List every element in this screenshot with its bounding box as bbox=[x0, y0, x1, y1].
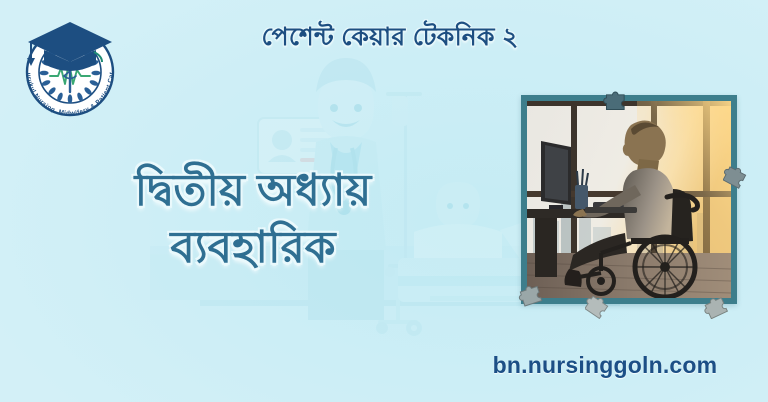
banner-subject-title: পেশেন্ট কেয়ার টেকনিক ২ bbox=[150, 22, 630, 53]
bed-wheels-watermark bbox=[376, 296, 520, 336]
wheelchair-user-at-desk-photo bbox=[527, 101, 731, 298]
chapter-heading: দ্বিতীয় অধ্যায় ব্যবহারিক bbox=[18, 162, 488, 276]
gurukul-nursing-logo: Gurukul Nursing, Midwifery & Patient Car… bbox=[14, 12, 126, 124]
site-url-text: bn.nursinggoln.com bbox=[460, 352, 750, 379]
course-banner: Gurukul Nursing, Midwifery & Patient Car… bbox=[0, 0, 768, 402]
wheelchair-user-photo-frame bbox=[521, 95, 737, 304]
photo-inner bbox=[527, 101, 731, 298]
chapter-heading-line-1: দ্বিতীয় অধ্যায় bbox=[18, 162, 488, 219]
chapter-heading-line-2: ব্যবহারিক bbox=[18, 219, 488, 276]
